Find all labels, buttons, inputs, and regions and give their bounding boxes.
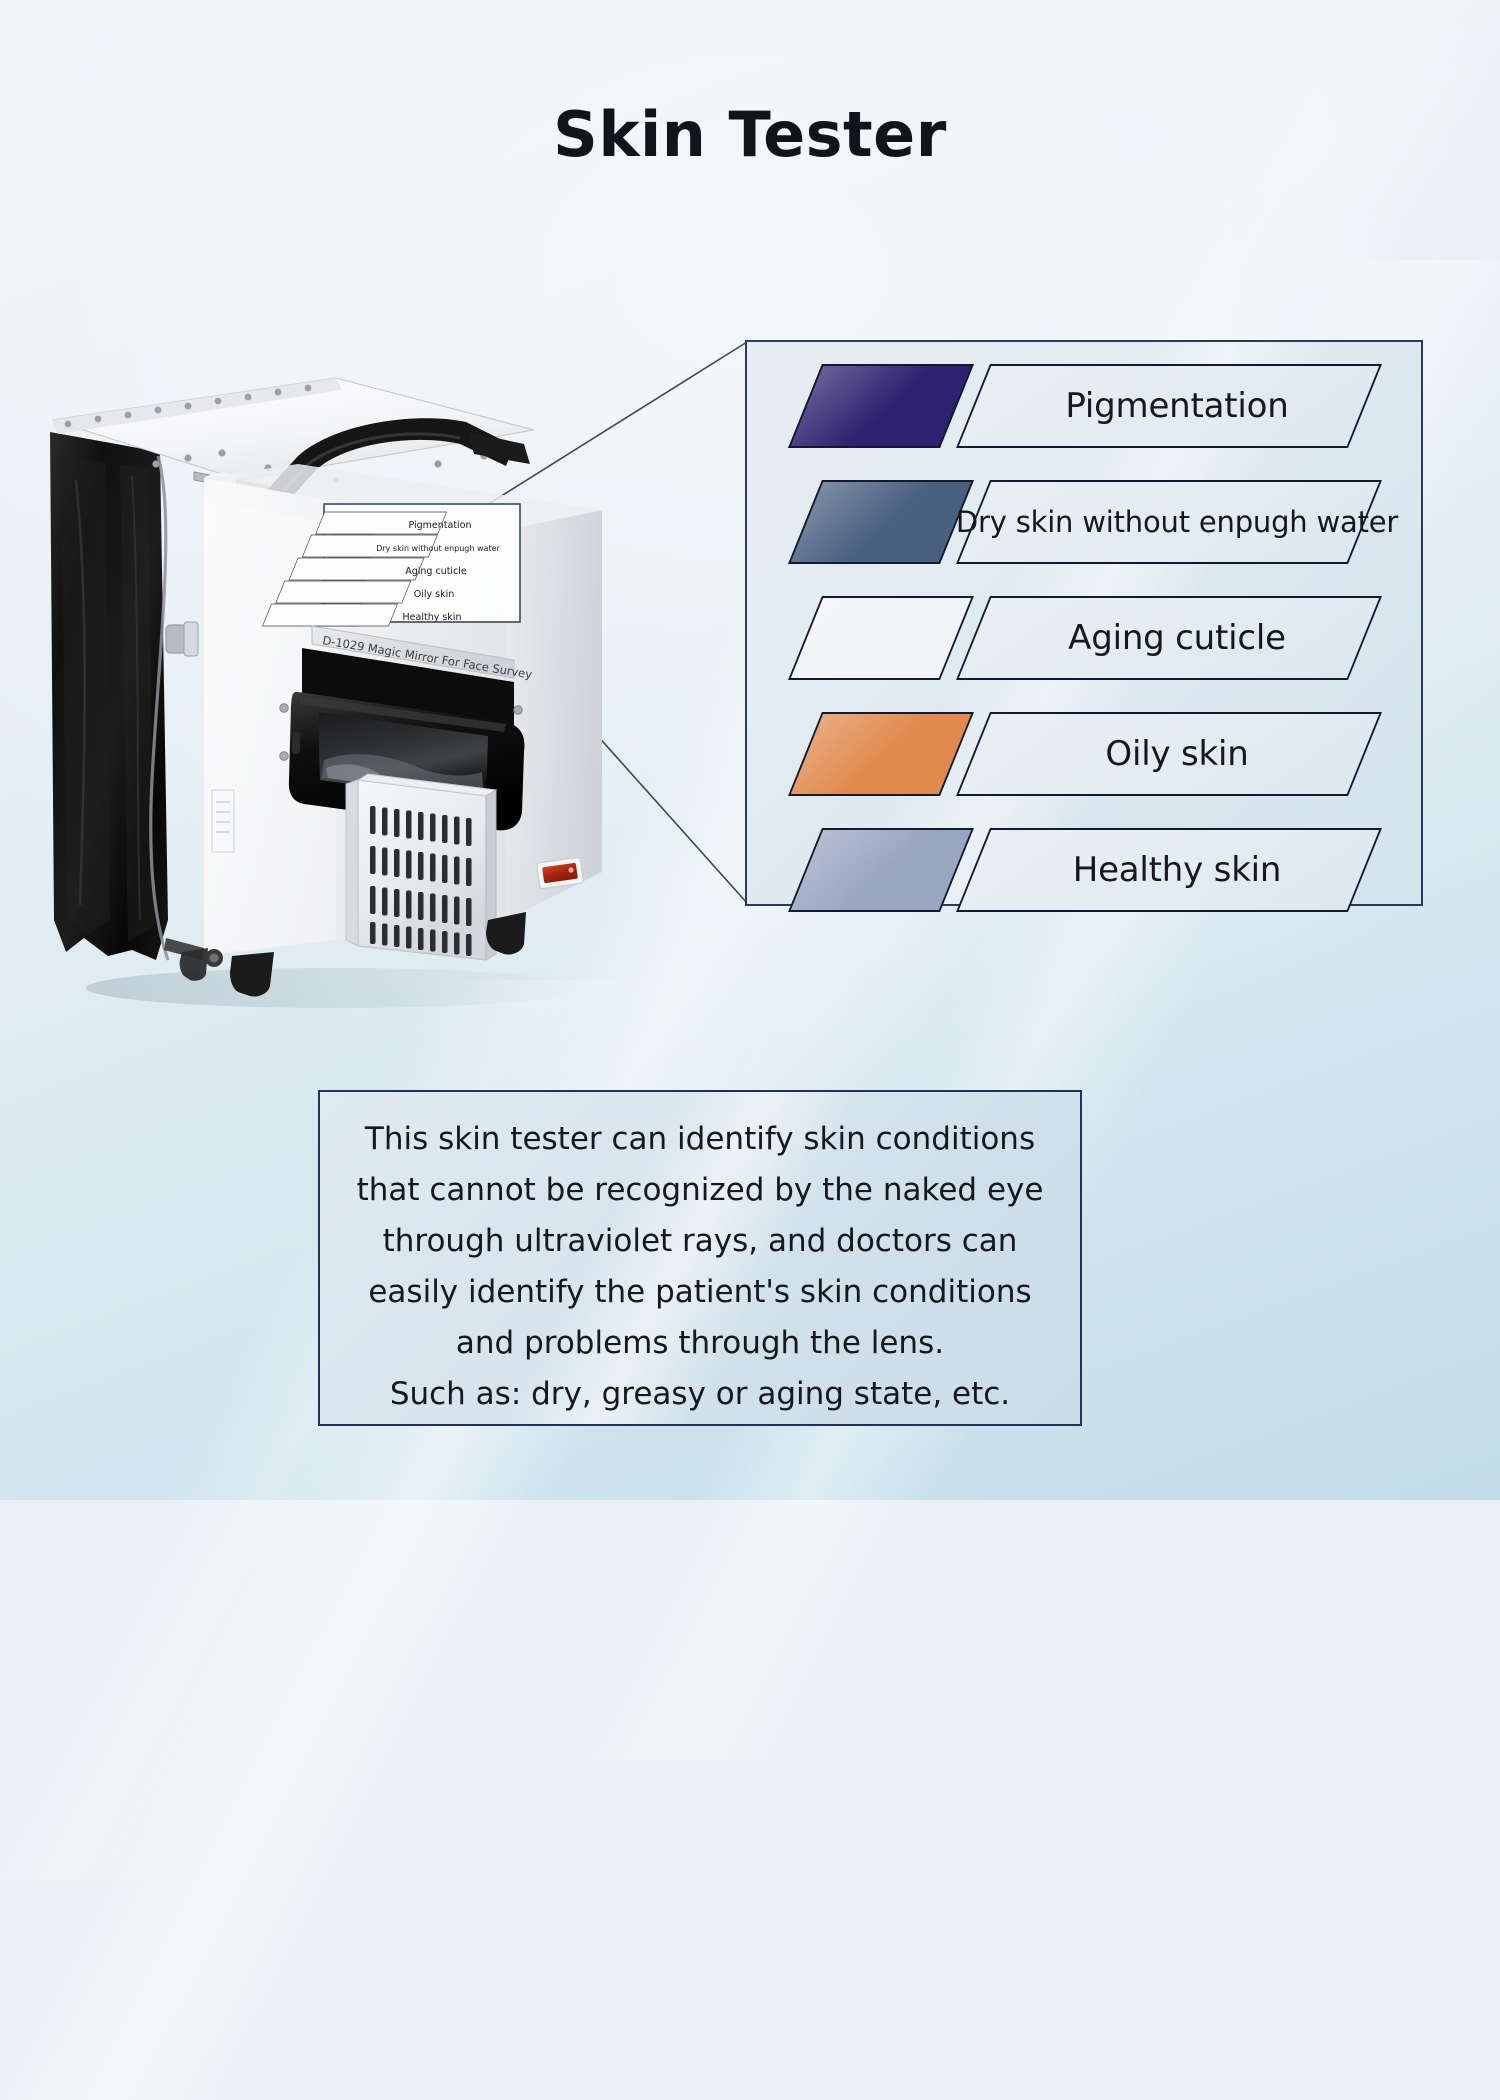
foot-front-left	[230, 952, 274, 997]
description-box: This skin tester can identify skin condi…	[318, 1090, 1082, 1426]
page-title: Skin Tester	[0, 98, 1500, 171]
skin-tester-illustration: Pigmentation Dry skin without enpugh wat…	[36, 360, 616, 1020]
legend-swatch-dry-skin	[788, 480, 974, 564]
power-switch	[536, 857, 583, 889]
legend-row[interactable]: Healthy skin	[805, 828, 1365, 912]
legend-row[interactable]: Aging cuticle	[805, 596, 1365, 680]
legend-swatch-oily-skin	[788, 712, 974, 796]
legend-label-healthy-skin: Healthy skin	[981, 828, 1373, 912]
description-line-5: and problems through the lens.	[334, 1318, 1066, 1369]
legend-label-dry-skin: Dry skin without enpugh water	[981, 480, 1373, 564]
svg-text:Dry skin without enpugh water: Dry skin without enpugh water	[376, 544, 500, 553]
legend-row[interactable]: Dry skin without enpugh water	[805, 480, 1365, 564]
legend-label-pigmentation: Pigmentation	[981, 364, 1373, 448]
side-knob	[166, 622, 198, 656]
svg-text:Aging cuticle: Aging cuticle	[405, 566, 467, 577]
legend-panel: Pigmentation Dry skin without enpugh wat…	[745, 340, 1423, 906]
description-line-2: that cannot be recognized by the naked e…	[334, 1165, 1066, 1216]
description-line-3: through ultraviolet rays, and doctors ca…	[334, 1216, 1066, 1267]
description-line-6: Such as: dry, greasy or aging state, etc…	[334, 1369, 1066, 1420]
legend-label-oily-skin: Oily skin	[981, 712, 1373, 796]
legend-row[interactable]: Pigmentation	[805, 364, 1365, 448]
svg-text:Pigmentation: Pigmentation	[408, 520, 471, 531]
legend-swatch-aging-cuticle	[788, 596, 974, 680]
legend-row[interactable]: Oily skin	[805, 712, 1365, 796]
infographic-root: Skin Tester	[0, 0, 1500, 1500]
product-image: Pigmentation Dry skin without enpugh wat…	[36, 360, 616, 1020]
legend-label-aging-cuticle: Aging cuticle	[981, 596, 1373, 680]
spec-sticker	[212, 790, 234, 852]
legend-rows: Pigmentation Dry skin without enpugh wat…	[747, 342, 1421, 904]
legend-swatch-pigmentation	[788, 364, 974, 448]
svg-text:Oily skin: Oily skin	[414, 589, 455, 600]
description-text: This skin tester can identify skin condi…	[320, 1092, 1080, 1420]
svg-text:Healthy skin: Healthy skin	[403, 612, 462, 623]
legend-swatch-healthy-skin	[788, 828, 974, 912]
ventilation-grille	[346, 774, 496, 960]
description-line-1: This skin tester can identify skin condi…	[334, 1114, 1066, 1165]
description-line-4: easily identify the patient's skin condi…	[334, 1267, 1066, 1318]
